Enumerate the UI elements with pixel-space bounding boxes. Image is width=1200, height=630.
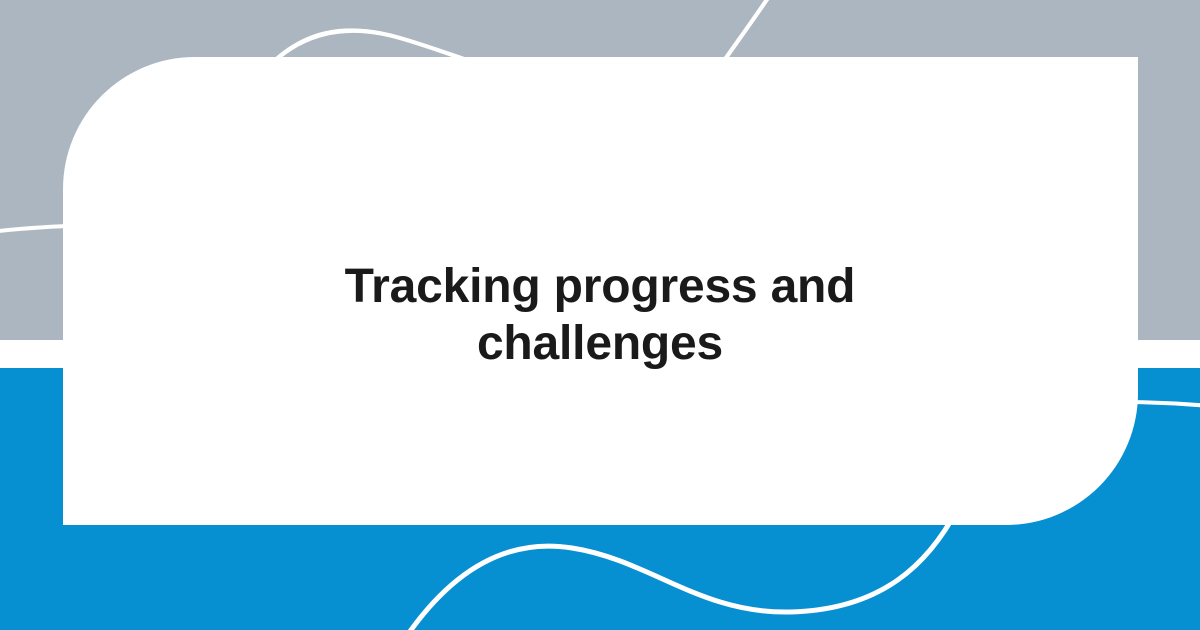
content-card: [63, 57, 1138, 525]
social-card-canvas: Tracking progress and challenges: [0, 0, 1200, 630]
